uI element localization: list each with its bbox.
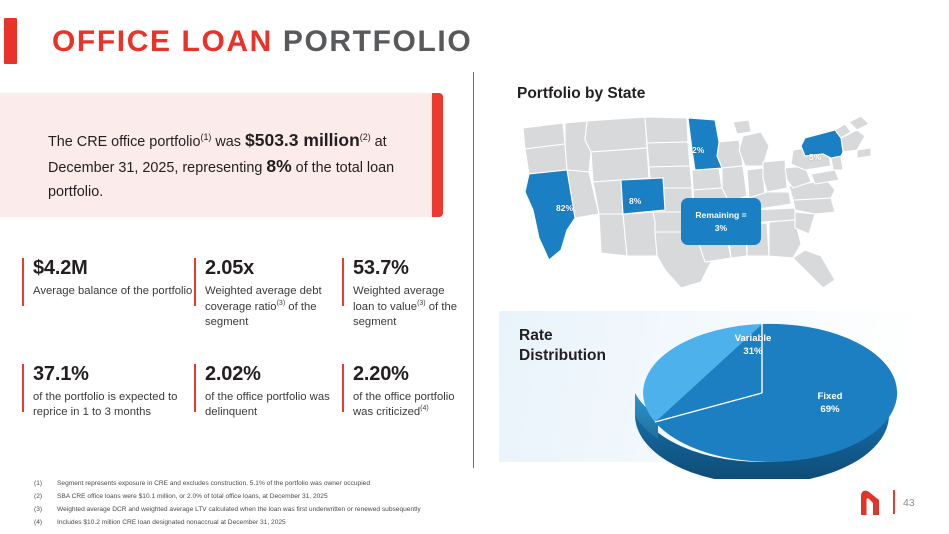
footnote-row: (2) SBA CRE office loans were $10.1 mill… — [34, 491, 504, 503]
page-title-grey: PORTFOLIO — [283, 25, 472, 58]
footnote-row: (1) Segment represents exposure in CRE a… — [34, 478, 504, 490]
page-title-red: OFFICE LOAN — [52, 25, 273, 58]
footnote-text: Segment represents exposure in CRE and e… — [57, 478, 370, 490]
pie-title-line1: Rate — [519, 326, 606, 346]
page-number-divider — [893, 490, 895, 514]
statement-sup1: (1) — [201, 132, 212, 142]
footnote-text: SBA CRE office loans were $10.1 million,… — [57, 491, 328, 503]
statement-highlight-pct: 8% — [266, 156, 291, 176]
stat-value: 53.7% — [353, 256, 462, 281]
stat-label: of the office portfolio was criticized(4… — [353, 390, 462, 421]
statement-highlight-amount: $503.3 million — [245, 130, 360, 150]
stat-debt-coverage-ratio: 2.05x Weighted average debt coverage rat… — [194, 256, 342, 331]
pie-title: Rate Distribution — [519, 326, 606, 366]
statement-accent-bar — [432, 93, 443, 217]
stat-average-balance: $4.2M Average balance of the portfolio — [22, 256, 194, 331]
page-number: 43 — [903, 497, 915, 509]
stat-label: Weighted average debt coverage ratio(3) … — [205, 284, 342, 331]
statement-seg2: was — [211, 134, 245, 150]
stat-label-sup: (4) — [420, 405, 429, 412]
stat-label-a: of the office portfolio was criticized — [353, 391, 455, 419]
footnote-row: (3) Weighted average DCR and weighted av… — [34, 504, 504, 516]
remaining-value: 3% — [715, 222, 727, 235]
statement-text: The CRE office portfolio(1) was $503.3 m… — [48, 128, 416, 204]
state-colorado — [621, 178, 665, 214]
state-minnesota — [688, 118, 722, 170]
statement-sup2: (2) — [360, 132, 371, 142]
footnote-number: (2) — [34, 491, 57, 503]
pie-title-line2: Distribution — [519, 346, 606, 366]
vertical-divider — [473, 72, 474, 468]
stats-row-2: 37.1% of the portfolio is expected to re… — [22, 362, 462, 421]
company-logo-icon — [859, 489, 881, 515]
state-new-york — [801, 130, 843, 158]
stat-reprice: 37.1% of the portfolio is expected to re… — [22, 362, 194, 421]
stat-label: Weighted average loan to value(3) of the… — [353, 284, 462, 331]
stat-label: of the portfolio is expected to reprice … — [33, 390, 194, 421]
remaining-label: Remaining = — [695, 209, 746, 222]
state-california — [525, 170, 575, 260]
footnote-number: (3) — [34, 504, 57, 516]
stats-row-1: $4.2M Average balance of the portfolio 2… — [22, 256, 462, 331]
footnote-number: (1) — [34, 478, 57, 490]
stat-label: Average balance of the portfolio — [33, 284, 194, 300]
stat-label-sup: (3) — [277, 300, 286, 307]
footnotes: (1) Segment represents exposure in CRE a… — [34, 478, 504, 530]
title-accent-bar — [4, 18, 17, 64]
footnote-row: (4) Includes $10.2 million CRE loan desi… — [34, 517, 504, 529]
stat-label-sup: (3) — [417, 300, 426, 307]
footnote-number: (4) — [34, 517, 57, 529]
map-remaining-callout: Remaining = 3% — [681, 198, 761, 245]
stat-loan-to-value: 53.7% Weighted average loan to value(3) … — [342, 256, 462, 331]
stat-value: 37.1% — [33, 362, 194, 387]
stat-delinquent: 2.02% of the office portfolio was delinq… — [194, 362, 342, 421]
stats-grid: $4.2M Average balance of the portfolio 2… — [22, 256, 462, 421]
map-title: Portfolio by State — [517, 85, 645, 103]
stat-label: of the office portfolio was delinquent — [205, 390, 342, 421]
footnote-text: Includes $10.2 million CRE loan designat… — [57, 517, 286, 529]
slide: OFFICE LOAN PORTFOLIO The CRE office por… — [0, 0, 949, 534]
stat-value: $4.2M — [33, 256, 194, 281]
stat-value: 2.20% — [353, 362, 462, 387]
footnote-text: Weighted average DCR and weighted averag… — [57, 504, 421, 516]
stat-value: 2.02% — [205, 362, 342, 387]
stat-value: 2.05x — [205, 256, 342, 281]
stat-criticized: 2.20% of the office portfolio was critic… — [342, 362, 462, 421]
rate-distribution-pie — [612, 307, 912, 479]
page-title: OFFICE LOAN PORTFOLIO — [52, 20, 472, 64]
statement-seg1: The CRE office portfolio — [48, 134, 201, 150]
